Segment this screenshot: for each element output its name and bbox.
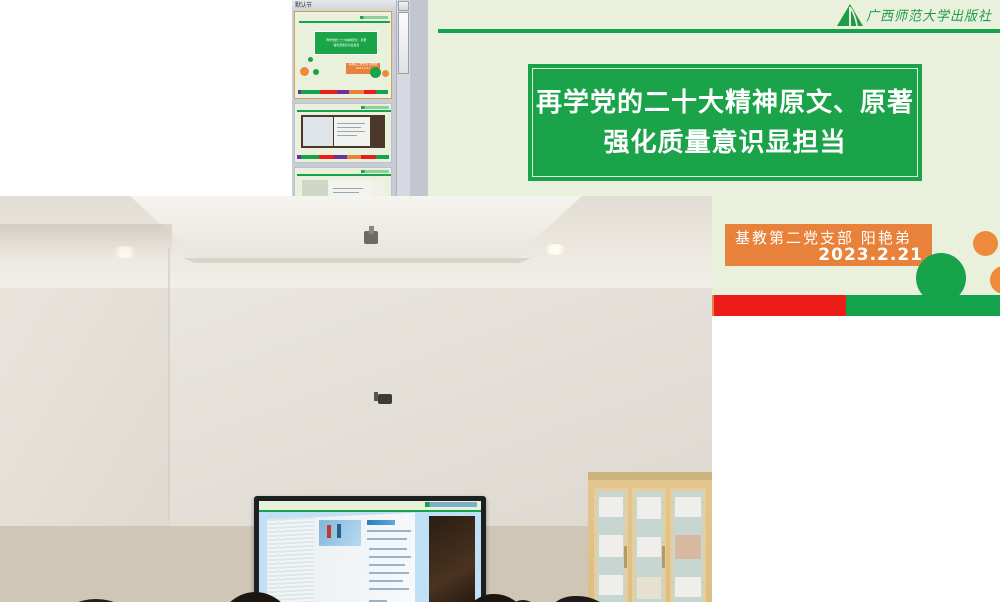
panel-divider — [410, 0, 429, 196]
slide-title-inner: 再学党的二十大精神原文、原著 强化质量意识显担当 — [532, 68, 918, 177]
meeting-room-photograph — [0, 196, 712, 602]
thumb2-rule — [297, 110, 391, 112]
display-slide-body — [259, 512, 481, 602]
bookcase-handle-1 — [624, 546, 627, 568]
thumbnail-panel-scrollbar[interactable] — [396, 0, 411, 196]
wall-speaker — [378, 394, 392, 404]
thumbnail-slide-3[interactable] — [294, 167, 392, 196]
thumbnail-slide-1[interactable]: 再学党的二十大精神原文、原著 强化质量意识显担当 基教第二党支部 阳艳弟 202… — [294, 11, 392, 99]
display-right-photo — [429, 516, 475, 602]
slide-byline-box: 基教第二党支部 阳艳弟 2023.2.21 — [725, 224, 932, 266]
publisher-logo: 广西师范大学出版社 — [836, 2, 988, 28]
thumbnail-slide-1-canvas: 再学党的二十大精神原文、原著 强化质量意识显担当 基教第二党支部 阳艳弟 202… — [296, 13, 390, 97]
thumb-deco-green-2 — [313, 69, 319, 75]
mountain-triangle-logo-icon — [836, 3, 864, 27]
thumb-bottom-bar — [298, 90, 388, 94]
thumb2-bottom-bar — [297, 155, 389, 159]
thumb-rule — [299, 21, 390, 23]
bookcase-door-1 — [594, 488, 628, 602]
thumbnail-slide-2[interactable] — [294, 103, 392, 163]
wall-corner — [168, 248, 170, 520]
thumb-deco-orange-1 — [300, 67, 309, 76]
slide-top-rule — [438, 29, 1000, 33]
display-slide-header — [259, 501, 481, 510]
thumb-deco-green-3 — [370, 67, 381, 78]
thumb2-logo-icon — [361, 106, 389, 109]
wall-shadow — [0, 224, 172, 258]
thumb2-photo — [301, 115, 385, 148]
thumb-deco-orange-2 — [382, 70, 389, 77]
slide-title-box: 再学党的二十大精神原文、原著 强化质量意识显担当 — [528, 64, 922, 181]
thumb3-photo — [301, 179, 385, 196]
thumb-logo-icon — [360, 16, 388, 19]
decoration-orange-circle-medium — [990, 266, 1000, 294]
section-label: 默认节 — [295, 1, 312, 10]
slide-thumbnail-panel[interactable]: 默认节 再学党的二十大精神原文、原著 强化质量意识显担当 基教第二党支部 阳艳弟… — [292, 0, 410, 196]
thumbnail-slide-3-canvas — [295, 168, 391, 196]
bookcase-door-2 — [632, 488, 666, 602]
thumb3-logo-icon — [361, 170, 389, 173]
bookcase — [588, 480, 712, 602]
bookcase-handle-2 — [662, 546, 665, 568]
ceiling-soffit — [130, 196, 582, 262]
screenshot-root: 默认节 再学党的二十大精神原文、原著 强化质量意识显担当 基教第二党支部 阳艳弟… — [0, 0, 1000, 602]
interactive-display — [254, 496, 486, 602]
decoration-orange-circle-small — [973, 231, 998, 256]
display-screen — [259, 501, 481, 602]
scroll-up-button[interactable] — [398, 1, 409, 11]
display-slide-logo-icon — [425, 502, 477, 507]
thumb-deco-green-1 — [308, 57, 313, 62]
ceiling-edge — [176, 258, 538, 263]
display-book-illustration — [319, 520, 361, 546]
display-slide-heading — [367, 520, 395, 525]
downlight-right — [543, 244, 567, 255]
display-book-left-page — [268, 517, 314, 602]
byline-date: 2023.2.21 — [818, 245, 923, 265]
thumb3-rule — [297, 174, 391, 176]
thumbnail-list[interactable]: 再学党的二十大精神原文、原著 强化质量意识显担当 基教第二党支部 阳艳弟 202… — [294, 11, 394, 196]
thumbnail-panel-header: 默认节 — [292, 0, 410, 11]
scrollbar-thumb[interactable] — [398, 12, 409, 74]
publisher-wordmark: 广西师范大学出版社 — [866, 5, 992, 25]
thumb-title-box: 再学党的二十大精神原文、原著 强化质量意识显担当 — [314, 31, 378, 55]
slide-title-line-2: 强化质量意识显担当 — [603, 126, 846, 160]
bookcase-door-3 — [670, 488, 706, 602]
slide-title-line-1: 再学党的二十大精神原文、原著 — [536, 86, 914, 120]
thumbnail-slide-2-canvas — [295, 104, 391, 162]
wall-camera — [369, 226, 374, 234]
